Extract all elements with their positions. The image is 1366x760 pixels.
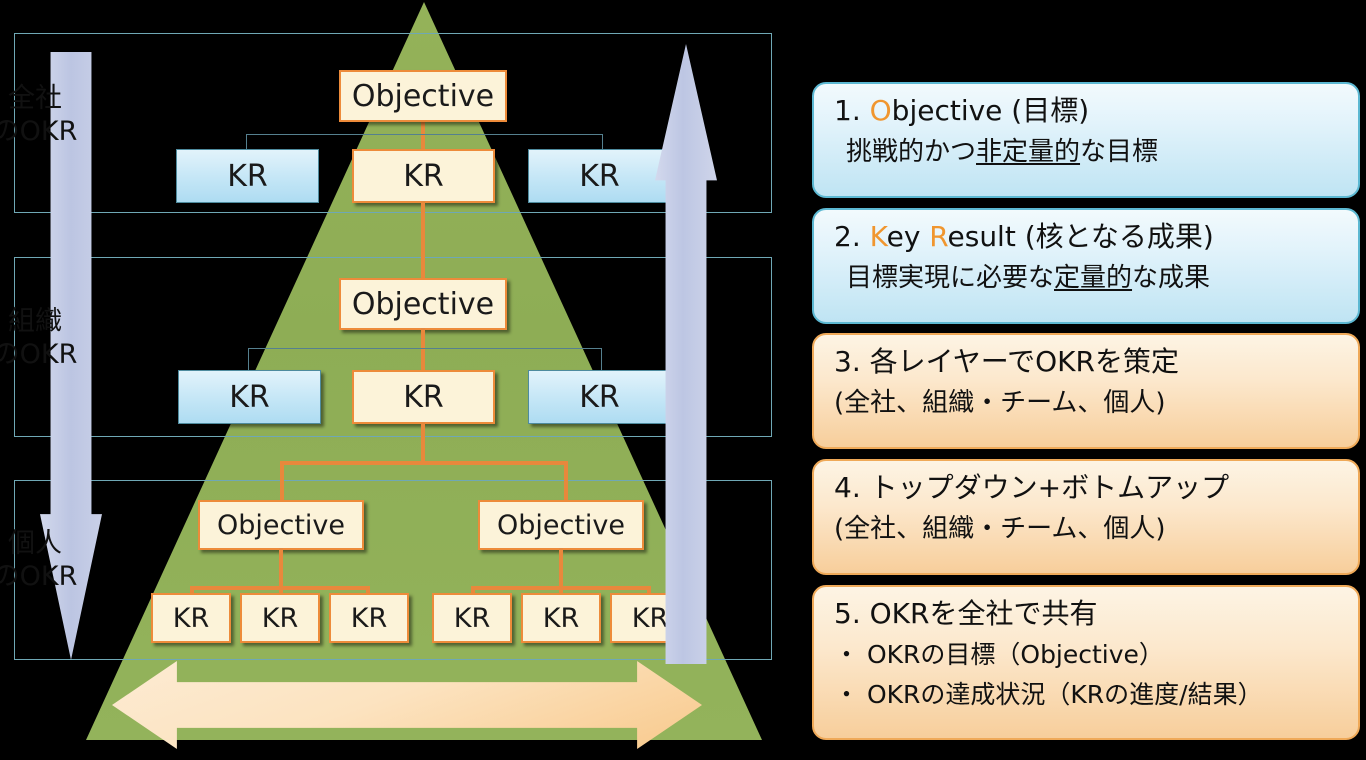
node-org-objective[interactable]: Objective — [339, 278, 507, 330]
card-number: 1. — [834, 94, 861, 127]
node-label: KR — [229, 380, 270, 415]
card-topdown-bottomup[interactable]: 4. トップダウン+ボトムアップ (全社、組織・チーム、個人) — [812, 459, 1360, 575]
node-label: KR — [579, 159, 620, 194]
node-company-kr-center[interactable]: KR — [352, 149, 495, 203]
card-key-result[interactable]: 2. Key Result (核となる成果) 目標実現に必要な定量的な成果 — [812, 208, 1360, 324]
node-org-kr-right[interactable]: KR — [528, 370, 671, 424]
card-line2-underline: 定量的 — [1054, 263, 1132, 293]
node-label: KR — [579, 380, 620, 415]
node-individual-kr-5[interactable]: KR — [521, 593, 601, 643]
card-title: 5. OKRを全社で共有 — [834, 593, 1344, 635]
node-individual-kr-2[interactable]: KR — [240, 593, 320, 643]
card-bullet-1: ・ OKRの目標（Objective） — [834, 635, 1344, 675]
card-line2-pre: 挑戦的かつ — [846, 137, 976, 167]
card-number: 5. — [834, 597, 861, 630]
card-title-plain: 各レイヤーでOKRを策定 — [861, 345, 1179, 378]
connector-ind-right-bracket — [471, 586, 651, 590]
connector-individual-obj-left-drop — [280, 461, 284, 503]
card-line2-post: な成果 — [1132, 263, 1210, 293]
node-individual-objective-left[interactable]: Objective — [198, 500, 364, 550]
card-title-accent: K — [870, 220, 887, 253]
card-layers[interactable]: 3. 各レイヤーでOKRを策定 (全社、組織・チーム、個人) — [812, 333, 1360, 449]
card-title: 4. トップダウン+ボトムアップ — [834, 467, 1344, 509]
node-label: Objective — [352, 287, 494, 322]
node-company-objective[interactable]: Objective — [339, 70, 507, 122]
card-subtitle: 目標実現に必要な定量的な成果 — [834, 258, 1344, 298]
card-number: 3. — [834, 345, 861, 378]
card-title: 2. Key Result (核となる成果) — [834, 216, 1344, 258]
card-share[interactable]: 5. OKRを全社で共有 ・ OKRの目標（Objective） ・ OKRの達… — [812, 585, 1360, 740]
card-title-accent: O — [870, 94, 892, 127]
card-number: 4. — [834, 471, 861, 504]
card-subtitle: (全社、組織・チーム、個人) — [834, 509, 1344, 549]
node-company-kr-left[interactable]: KR — [176, 149, 319, 203]
connector-ind-left-bracket — [190, 586, 370, 590]
node-label: KR — [543, 603, 579, 634]
node-individual-kr-1[interactable]: KR — [151, 593, 231, 643]
card-title-accent2: R — [929, 220, 947, 253]
node-label: KR — [403, 380, 444, 415]
node-org-kr-center[interactable]: KR — [352, 370, 495, 424]
card-title-tail: (核となる成果) — [1016, 220, 1214, 253]
card-title-plain: OKRを全社で共有 — [861, 597, 1098, 630]
card-line2-post: な目標 — [1080, 137, 1158, 167]
node-label: KR — [351, 603, 387, 634]
card-title-rest: ey — [887, 220, 930, 253]
node-label: KR — [173, 603, 209, 634]
card-title: 3. 各レイヤーでOKRを策定 — [834, 341, 1344, 383]
card-title-rest2: esult — [948, 220, 1016, 253]
node-label: KR — [403, 159, 444, 194]
connector-company-to-org — [421, 201, 425, 281]
card-subtitle: (全社、組織・チーム、個人) — [834, 383, 1344, 423]
card-objective[interactable]: 1. Objective (目標) 挑戦的かつ非定量的な目標 — [812, 82, 1360, 198]
card-title: 1. Objective (目標) — [834, 90, 1344, 132]
node-label: KR — [632, 603, 668, 634]
card-line2-pre: 目標実現に必要な — [846, 263, 1054, 293]
card-title-tail: (目標) — [1002, 94, 1089, 127]
node-individual-kr-4[interactable]: KR — [432, 593, 512, 643]
node-label: KR — [454, 603, 490, 634]
card-title-rest: bjective — [892, 94, 1003, 127]
connector-org-to-individual — [421, 422, 425, 464]
connector-individual-obj-right-drop — [564, 461, 568, 503]
node-label: Objective — [497, 510, 625, 541]
card-title-plain: トップダウン+ボトムアップ — [861, 471, 1229, 504]
node-org-kr-left[interactable]: KR — [178, 370, 321, 424]
okr-pyramid-diagram: Objective KR KR KR Objective KR KR KR Ob… — [0, 0, 790, 760]
node-label: Objective — [352, 79, 494, 114]
node-company-kr-right[interactable]: KR — [528, 149, 671, 203]
node-label: KR — [227, 159, 268, 194]
card-subtitle: 挑戦的かつ非定量的な目標 — [834, 132, 1344, 172]
card-number: 2. — [834, 220, 861, 253]
connector-individual-obj-horizontal — [280, 461, 568, 465]
node-label: Objective — [217, 510, 345, 541]
node-label: KR — [262, 603, 298, 634]
okr-explanation-panel: 1. Objective (目標) 挑戦的かつ非定量的な目標 2. Key Re… — [812, 0, 1366, 760]
card-bullet-2: ・ OKRの達成状況（KRの進度/結果） — [834, 675, 1344, 715]
node-individual-objective-right[interactable]: Objective — [478, 500, 644, 550]
node-individual-kr-3[interactable]: KR — [329, 593, 409, 643]
card-line2-underline: 非定量的 — [976, 137, 1080, 167]
